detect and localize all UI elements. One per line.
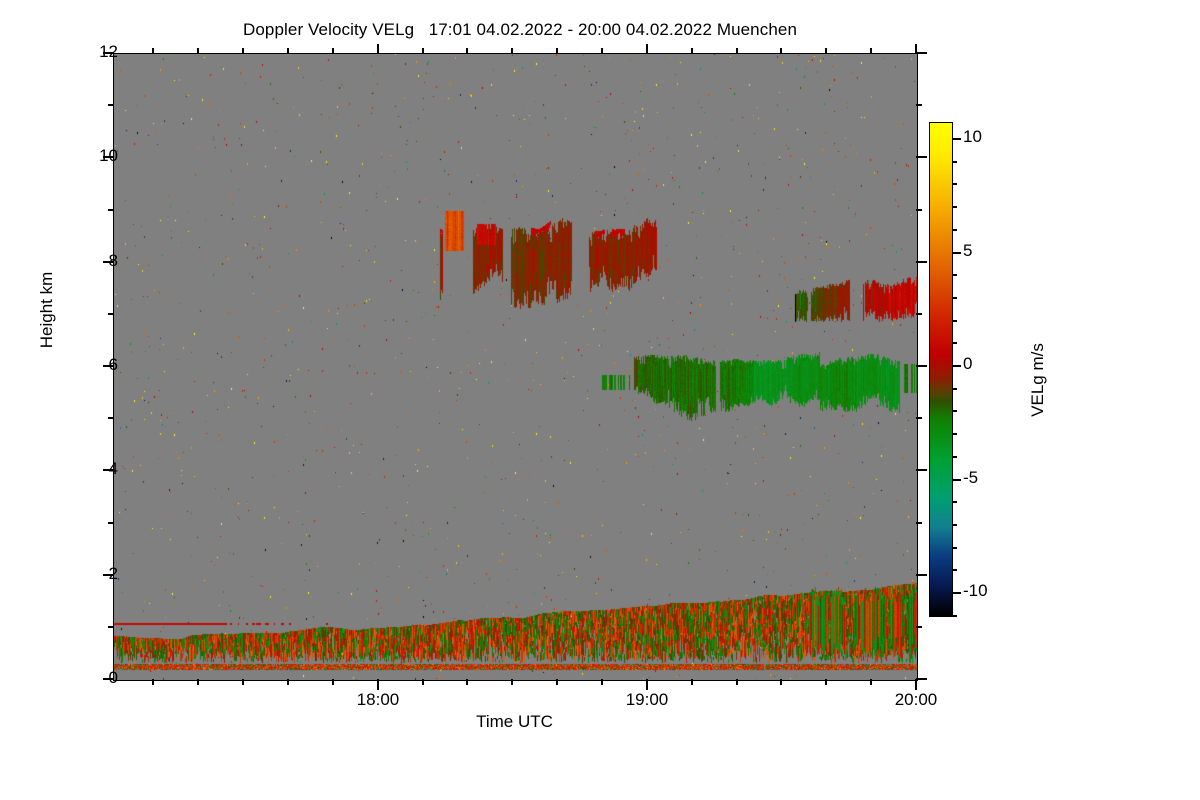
x-tick-label: 20:00 (871, 690, 961, 710)
doppler-velocity-figure: Doppler Velocity VELg 17:01 04.02.2022 -… (0, 0, 1200, 800)
colorbar-tick-mark (952, 501, 957, 503)
x-tick-mark (466, 48, 468, 54)
y-tick-label: 8 (109, 251, 118, 271)
x-tick-mark (511, 679, 513, 685)
x-tick-mark (197, 679, 199, 685)
colorbar-tick-mark (952, 410, 957, 412)
colorbar-tick-mark (952, 456, 957, 458)
y-tick-mark (916, 156, 927, 158)
colorbar-tick-mark (952, 433, 957, 435)
x-tick-mark (422, 679, 424, 685)
y-axis-title: Height km (37, 230, 57, 390)
y-tick-label: 10 (99, 146, 118, 166)
x-tick-mark (601, 679, 603, 685)
x-tick-mark (287, 679, 289, 685)
x-axis-title: Time UTC (113, 712, 916, 732)
x-tick-mark (646, 679, 648, 690)
y-tick-mark (916, 261, 927, 263)
y-tick-mark (916, 522, 922, 524)
colorbar-tick-mark (952, 252, 961, 254)
colorbar-tick-label: 0 (963, 354, 972, 374)
x-tick-mark (601, 48, 603, 54)
x-tick-mark (242, 679, 244, 685)
colorbar-gradient (930, 123, 952, 616)
x-tick-mark (332, 48, 334, 54)
x-tick-mark (691, 48, 693, 54)
y-tick-mark (108, 313, 114, 315)
doppler-velocity-heatmap[interactable] (114, 54, 917, 680)
y-tick-mark (916, 365, 927, 367)
x-tick-mark (780, 679, 782, 685)
y-tick-mark (916, 626, 922, 628)
x-tick-mark (511, 48, 513, 54)
colorbar-tick-mark (952, 297, 957, 299)
x-tick-mark (691, 679, 693, 685)
colorbar-title: VELg m/s (1028, 290, 1048, 470)
colorbar-tick-mark (952, 592, 961, 594)
y-tick-label: 12 (99, 42, 118, 62)
colorbar-tick-mark (952, 569, 957, 571)
y-tick-mark (108, 522, 114, 524)
y-tick-mark (916, 678, 927, 680)
colorbar-tick-label: 10 (963, 127, 982, 147)
colorbar-tick-mark (952, 320, 957, 322)
y-tick-mark (916, 574, 927, 576)
y-tick-mark (916, 209, 922, 211)
colorbar-tick-mark (952, 615, 957, 617)
x-tick-label: 18:00 (333, 690, 423, 710)
x-tick-mark (152, 48, 154, 54)
colorbar-tick-mark (952, 138, 961, 140)
y-tick-mark (916, 417, 922, 419)
x-tick-mark (556, 679, 558, 685)
colorbar-tick-label: 5 (963, 241, 972, 261)
colorbar-tick-mark (952, 388, 957, 390)
plot-area[interactable] (113, 53, 918, 681)
y-tick-mark (916, 313, 922, 315)
y-tick-mark (108, 417, 114, 419)
y-tick-label: 6 (109, 355, 118, 375)
colorbar-tick-label: -5 (963, 468, 978, 488)
y-tick-mark (916, 52, 927, 54)
x-tick-mark (870, 48, 872, 54)
x-tick-mark (377, 44, 379, 54)
x-tick-mark (915, 679, 917, 690)
y-tick-mark (916, 104, 922, 106)
y-tick-label: 0 (109, 668, 118, 688)
x-tick-mark (466, 679, 468, 685)
x-tick-mark (242, 48, 244, 54)
colorbar-tick-mark (952, 479, 961, 481)
x-tick-mark (287, 48, 289, 54)
y-tick-mark (916, 469, 927, 471)
x-tick-mark (736, 679, 738, 685)
x-tick-mark (646, 44, 648, 54)
colorbar-tick-mark (952, 229, 957, 231)
colorbar-tick-mark (952, 342, 957, 344)
x-tick-mark (780, 48, 782, 54)
colorbar-tick-label: -10 (963, 581, 988, 601)
x-tick-label: 19:00 (602, 690, 692, 710)
x-tick-mark (870, 679, 872, 685)
y-tick-mark (108, 104, 114, 106)
x-tick-mark (332, 679, 334, 685)
x-tick-mark (825, 679, 827, 685)
y-tick-label: 4 (109, 459, 118, 479)
colorbar-tick-mark (952, 524, 957, 526)
y-tick-mark (108, 209, 114, 211)
colorbar[interactable] (929, 122, 953, 617)
x-tick-mark (152, 679, 154, 685)
x-tick-mark (556, 48, 558, 54)
x-tick-mark (422, 48, 424, 54)
y-tick-label: 2 (109, 564, 118, 584)
x-tick-mark (825, 48, 827, 54)
y-tick-mark (108, 626, 114, 628)
colorbar-tick-mark (952, 206, 957, 208)
colorbar-tick-mark (952, 183, 957, 185)
page-title: Doppler Velocity VELg 17:01 04.02.2022 -… (0, 20, 1040, 40)
x-tick-mark (736, 48, 738, 54)
colorbar-tick-mark (952, 161, 957, 163)
colorbar-tick-mark (952, 547, 957, 549)
x-tick-mark (915, 44, 917, 54)
x-tick-mark (197, 48, 199, 54)
colorbar-tick-mark (952, 365, 961, 367)
x-tick-mark (377, 679, 379, 690)
colorbar-tick-mark (952, 274, 957, 276)
